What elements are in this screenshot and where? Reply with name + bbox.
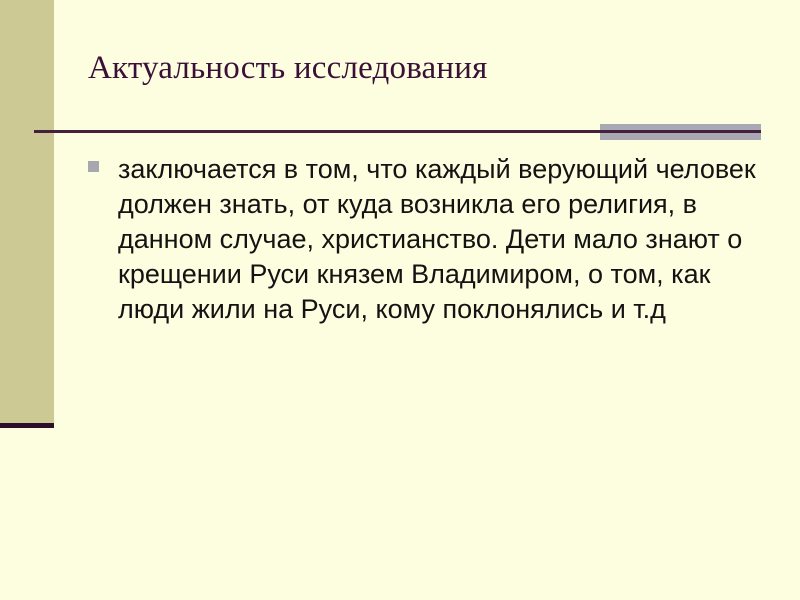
square-bullet-icon [88, 161, 99, 172]
slide-body: заключается в том, что каждый верующий ч… [88, 152, 758, 327]
list-item-label: заключается в том, что каждый верующий ч… [118, 152, 758, 327]
left-band-underline [0, 423, 54, 428]
title-divider-rule [34, 130, 761, 133]
slide-canvas: Актуальность исследования заключается в … [0, 0, 800, 600]
list-item: заключается в том, что каждый верующий ч… [88, 152, 758, 327]
left-decorative-band [0, 0, 54, 423]
slide-title: Актуальность исследования [88, 48, 748, 88]
